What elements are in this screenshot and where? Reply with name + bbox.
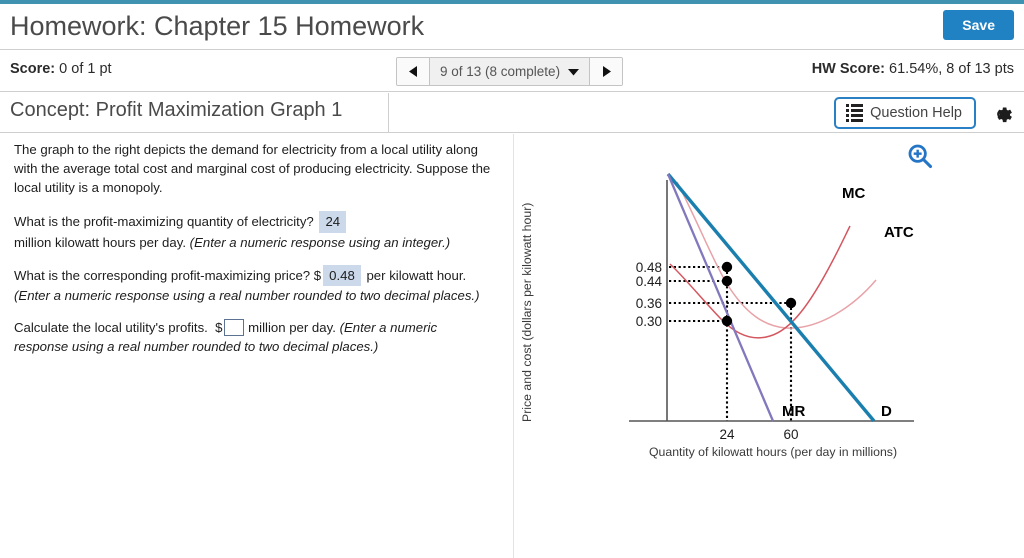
settings-button[interactable]	[988, 101, 1014, 127]
title-bar: Homework: Chapter 15 Homework Save	[0, 4, 1024, 50]
q3-hint-line2: response using a real number rounded to …	[14, 339, 378, 354]
gear-icon	[988, 101, 1014, 127]
ytick-3: 0.30	[636, 314, 662, 329]
q3-currency: $	[215, 320, 222, 335]
caret-down-icon	[568, 68, 579, 76]
q1-answer-field[interactable]: 24	[319, 211, 346, 232]
q1-units: million kilowatt hours per day.	[14, 235, 186, 250]
hw-score-value: 61.54%, 8 of 13 pts	[889, 61, 1014, 77]
atc-label: ATC	[884, 224, 914, 241]
question-2: What is the corresponding profit-maximiz…	[14, 265, 500, 305]
xtick-1: 60	[783, 427, 798, 442]
next-question-button[interactable]	[589, 58, 622, 85]
q1-prompt: What is the profit-maximizing quantity o…	[14, 214, 314, 229]
problem-intro: The graph to the right depicts the deman…	[14, 140, 500, 197]
prev-question-button[interactable]	[397, 58, 430, 85]
ytick-1: 0.44	[636, 274, 663, 289]
question-help-button[interactable]: Question Help	[834, 97, 976, 129]
left-triangle-icon	[408, 65, 419, 78]
hw-score-label: HW Score:	[812, 61, 885, 77]
problem-statement: The graph to the right depicts the deman…	[14, 140, 500, 370]
mc-label: MC	[842, 185, 865, 202]
question-navigator: 9 of 13 (8 complete)	[396, 57, 623, 86]
score-display: Score: 0 of 1 pt	[10, 61, 112, 77]
concept-bar: Concept: Profit Maximization Graph 1 Que…	[0, 93, 1024, 133]
score-value: 0 of 1 pt	[59, 61, 111, 77]
concept-divider	[388, 93, 389, 133]
homework-page: Homework: Chapter 15 Homework Save Score…	[0, 0, 1024, 558]
q1-hint: (Enter a numeric response using an integ…	[190, 235, 450, 250]
q2-units: per kilowatt hour.	[366, 268, 466, 283]
point-mc-24	[722, 316, 732, 326]
q3-prompt: Calculate the local utility's profits.	[14, 320, 208, 335]
list-icon	[846, 104, 863, 122]
question-1: What is the profit-maximizing quantity o…	[14, 211, 500, 251]
hw-score-display: HW Score: 61.54%, 8 of 13 pts	[812, 61, 1014, 77]
y-axis-title: Price and cost (dollars per kilowatt hou…	[520, 203, 534, 422]
xtick-0: 24	[719, 427, 735, 442]
page-title: Homework: Chapter 15 Homework	[0, 11, 424, 42]
concept-title: Concept: Profit Maximization Graph 1	[10, 99, 342, 122]
q2-hint: (Enter a numeric response using a real n…	[14, 288, 479, 303]
point-atc-60	[786, 298, 796, 308]
point-mr-24	[722, 276, 732, 286]
ytick-0: 0.48	[636, 260, 662, 275]
question-help-label: Question Help	[870, 105, 962, 121]
score-label: Score:	[10, 61, 55, 77]
right-triangle-icon	[601, 65, 612, 78]
save-button[interactable]: Save	[943, 10, 1014, 40]
q3-answer-field[interactable]	[224, 319, 244, 336]
q3-units: million per day.	[248, 320, 336, 335]
marginal-revenue-line	[668, 174, 773, 421]
score-bar: Score: 0 of 1 pt 9 of 13 (8 complete)	[0, 51, 1024, 92]
mr-label: MR	[782, 403, 805, 420]
point-price-24	[722, 262, 732, 272]
x-axis-title: Quantity of kilowatt hours (per day in m…	[649, 445, 897, 459]
question-3: Calculate the local utility's profits. $…	[14, 318, 500, 356]
question-position-label: 9 of 13 (8 complete)	[440, 64, 560, 79]
ytick-2: 0.36	[636, 296, 662, 311]
demand-line	[668, 174, 874, 421]
q2-currency: $	[314, 268, 321, 283]
q2-answer-field[interactable]: 0.48	[323, 265, 361, 286]
demand-label: D	[881, 403, 892, 420]
q3-hint: (Enter a numeric	[340, 320, 437, 335]
profit-maximization-chart: 0.48 0.44 0.36 0.30 24 60 MC ATC MR D Pr…	[514, 134, 1024, 558]
q2-prompt: What is the corresponding profit-maximiz…	[14, 268, 310, 283]
graph-panel: 0.48 0.44 0.36 0.30 24 60 MC ATC MR D Pr…	[514, 134, 1024, 558]
question-selector[interactable]: 9 of 13 (8 complete)	[430, 58, 589, 85]
